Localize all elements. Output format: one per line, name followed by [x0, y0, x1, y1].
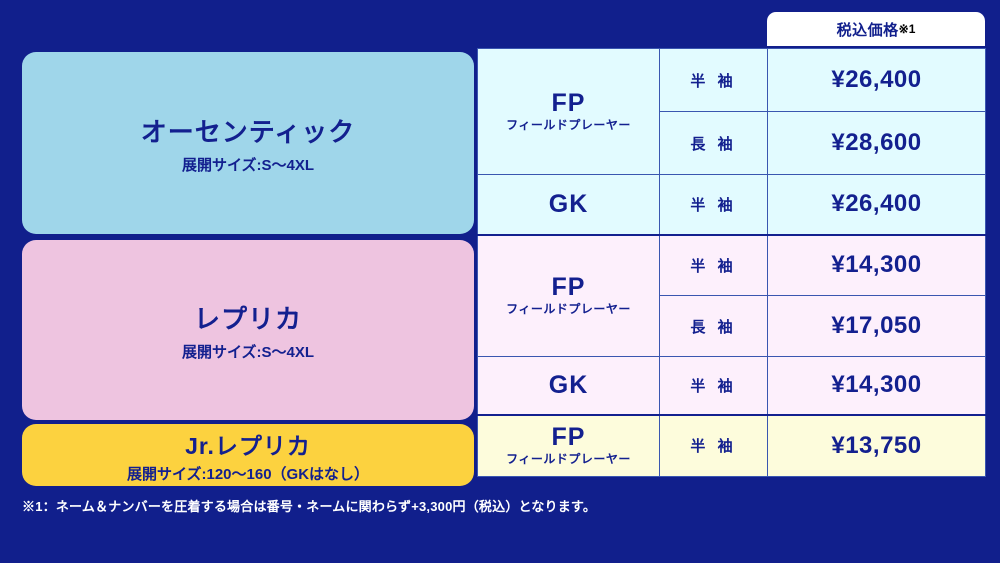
category-block-jr-replica: Jr.レプリカ 展開サイズ:120～160（GKはなし） — [22, 424, 474, 486]
sleeve-cell: 半 袖 — [660, 49, 768, 112]
price-cell: ¥26,400 — [768, 49, 986, 112]
price-column-footnote-mark: ※1 — [899, 22, 916, 36]
category-size-note-jr-replica: 展開サイズ:120～160（GKはなし） — [127, 463, 369, 484]
position-label: FP — [478, 90, 659, 116]
sleeve-cell: 半 袖 — [660, 235, 768, 296]
table-row: FP フィールドプレーヤー 半 袖 ¥26,400 — [478, 49, 986, 112]
sleeve-cell: 半 袖 — [660, 415, 768, 477]
position-label: GK — [478, 372, 659, 398]
position-sublabel: フィールドプレーヤー — [478, 116, 659, 133]
price-cell: ¥17,050 — [768, 296, 986, 357]
price-cell: ¥14,300 — [768, 235, 986, 296]
price-column-label: 税込価格 — [837, 19, 899, 40]
position-label: FP — [478, 274, 659, 300]
position-cell-fp: FP フィールドプレーヤー — [478, 235, 660, 357]
table-section-jr-replica: FP フィールドプレーヤー 半 袖 ¥13,750 — [478, 415, 986, 477]
category-block-authentic: オーセンティック 展開サイズ:S～4XL — [22, 52, 474, 234]
price-column-header: 税込価格※1 — [767, 12, 985, 46]
table-section-authentic: FP フィールドプレーヤー 半 袖 ¥26,400 長 袖 ¥28,600 GK… — [478, 49, 986, 235]
price-table: FP フィールドプレーヤー 半 袖 ¥26,400 長 袖 ¥28,600 GK… — [477, 48, 986, 477]
price-cell: ¥26,400 — [768, 175, 986, 235]
position-cell-fp: FP フィールドプレーヤー — [478, 415, 660, 477]
table-row: FP フィールドプレーヤー 半 袖 ¥14,300 — [478, 235, 986, 296]
table-row: GK 半 袖 ¥26,400 — [478, 175, 986, 235]
sleeve-cell: 長 袖 — [660, 296, 768, 357]
category-size-note-replica: 展開サイズ:S～4XL — [182, 341, 314, 362]
price-cell: ¥28,600 — [768, 112, 986, 175]
position-cell-gk: GK — [478, 175, 660, 235]
sleeve-cell: 半 袖 — [660, 175, 768, 235]
position-cell-fp: FP フィールドプレーヤー — [478, 49, 660, 175]
table-row: GK 半 袖 ¥14,300 — [478, 357, 986, 415]
position-sublabel: フィールドプレーヤー — [478, 450, 659, 467]
category-title-jr-replica: Jr.レプリカ — [185, 427, 311, 461]
category-title-authentic: オーセンティック — [141, 112, 355, 149]
price-cell: ¥14,300 — [768, 357, 986, 415]
position-sublabel: フィールドプレーヤー — [478, 300, 659, 317]
footnote-text: ※1：ネーム＆ナンバーを圧着する場合は番号・ネームに関わらず+3,300円（税込… — [22, 496, 596, 515]
sleeve-cell: 長 袖 — [660, 112, 768, 175]
table-row: FP フィールドプレーヤー 半 袖 ¥13,750 — [478, 415, 986, 477]
category-title-replica: レプリカ — [194, 299, 302, 336]
position-cell-gk: GK — [478, 357, 660, 415]
category-block-replica: レプリカ 展開サイズ:S～4XL — [22, 240, 474, 420]
position-label: GK — [478, 191, 659, 217]
category-size-note-authentic: 展開サイズ:S～4XL — [182, 154, 314, 175]
price-cell: ¥13,750 — [768, 415, 986, 477]
table-section-replica: FP フィールドプレーヤー 半 袖 ¥14,300 長 袖 ¥17,050 GK… — [478, 235, 986, 415]
sleeve-cell: 半 袖 — [660, 357, 768, 415]
price-table-page: 税込価格※1 オーセンティック 展開サイズ:S～4XL レプリカ 展開サイズ:S… — [0, 0, 1000, 563]
position-label: FP — [478, 424, 659, 450]
